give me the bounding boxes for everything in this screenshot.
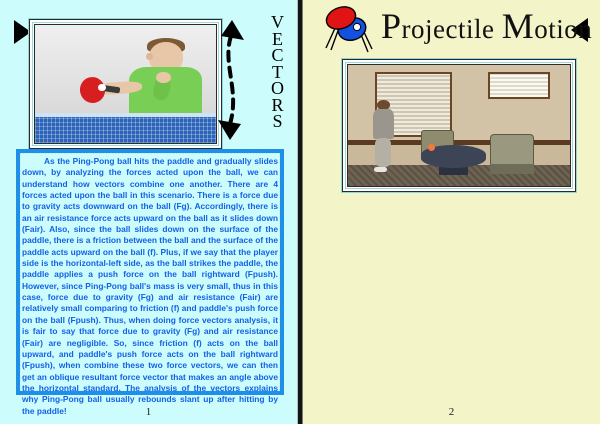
photo-boy-standing <box>372 100 394 170</box>
photo-boy-ear <box>146 53 152 60</box>
page-number-right: 2 <box>303 406 600 418</box>
photo-right-scene <box>348 65 570 186</box>
photo-small-window <box>488 72 550 99</box>
text-left-body: As the Ping-Pong ball hits the paddle an… <box>22 156 278 417</box>
photo-ping-pong-ball <box>98 84 105 91</box>
book-spread: V E C T O R S As the Ping-Pong ball hits… <box>0 0 600 424</box>
photo-chair-right-seat <box>490 164 534 174</box>
page-left: V E C T O R S As the Ping-Pong ball hits… <box>0 0 297 424</box>
dashed-double-arrow-icon <box>214 14 250 146</box>
photo-boy2-shoe <box>374 167 388 171</box>
photo-boy2-pants <box>375 138 391 167</box>
photo-boy-fist <box>156 72 170 83</box>
photo-projectile-room <box>342 59 576 192</box>
page-number-left: 1 <box>0 406 297 418</box>
page-title-text: Projectile Motion <box>381 14 592 44</box>
photo-ping-pong-player <box>29 19 222 149</box>
ping-pong-paddles-icon <box>322 4 378 56</box>
vectors-letter-s: S <box>272 113 282 130</box>
page-title-projectile-motion: Projectile Motion <box>381 6 592 49</box>
text-block-vectors: As the Ping-Pong ball hits the paddle an… <box>16 149 284 395</box>
photo-left-scene <box>35 25 216 143</box>
photo-table-texture <box>35 117 216 143</box>
page-title-vectors: V E C T O R S <box>271 14 284 130</box>
page-right: Projectile Motion <box>303 0 600 424</box>
photo-boy2-hoodie <box>373 109 393 138</box>
